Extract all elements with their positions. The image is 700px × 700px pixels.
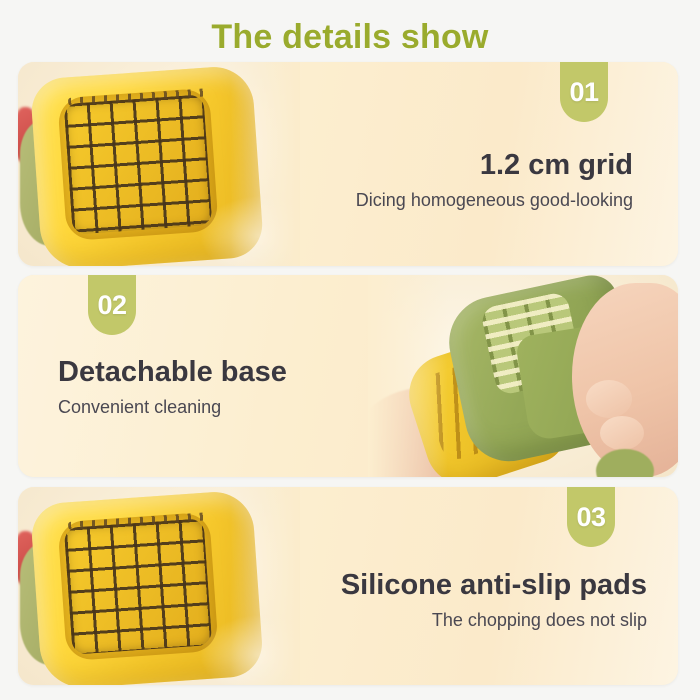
detail-text-block-3: Silicone anti-slip pads The chopping doe… bbox=[341, 570, 647, 631]
detail-panel-3: 03 Silicone anti-slip pads The chopping … bbox=[18, 487, 678, 685]
page-title: The details show bbox=[0, 18, 700, 57]
hands-separating-green-lid-photo-2 bbox=[368, 275, 678, 477]
photo-edge-fade bbox=[230, 487, 300, 685]
step-badge-03: 03 bbox=[567, 487, 615, 547]
detail-subline-3: The chopping does not slip bbox=[341, 609, 647, 632]
detail-panel-2: 02 Detachable base Convenient cleaning bbox=[18, 275, 678, 477]
finger-shape bbox=[586, 380, 632, 418]
photo-edge-fade bbox=[230, 62, 300, 266]
product-details-page: The details show 01 1.2 cm grid Dicing h… bbox=[0, 0, 700, 700]
photo-edge-fade bbox=[368, 275, 448, 477]
detail-panel-1: 01 1.2 cm grid Dicing homogeneous good-l… bbox=[18, 62, 678, 266]
detail-text-block-2: Detachable base Convenient cleaning bbox=[58, 357, 287, 418]
detail-subline-2: Convenient cleaning bbox=[58, 396, 287, 419]
detail-text-block-1: 1.2 cm grid Dicing homogeneous good-look… bbox=[356, 150, 633, 211]
detail-headline-2: Detachable base bbox=[58, 357, 287, 389]
yellow-cutter-with-metal-grid-photo-3 bbox=[18, 487, 300, 685]
metal-blade-grid-shape bbox=[64, 518, 212, 654]
step-badge-02: 02 bbox=[88, 275, 136, 335]
metal-blade-grid-shape bbox=[64, 94, 213, 234]
yellow-cutter-with-metal-grid-photo-1 bbox=[18, 62, 300, 266]
detail-headline-3: Silicone anti-slip pads bbox=[341, 570, 647, 602]
detail-headline-1: 1.2 cm grid bbox=[356, 150, 633, 182]
detail-subline-1: Dicing homogeneous good-looking bbox=[356, 189, 633, 212]
step-badge-01: 01 bbox=[560, 62, 608, 122]
